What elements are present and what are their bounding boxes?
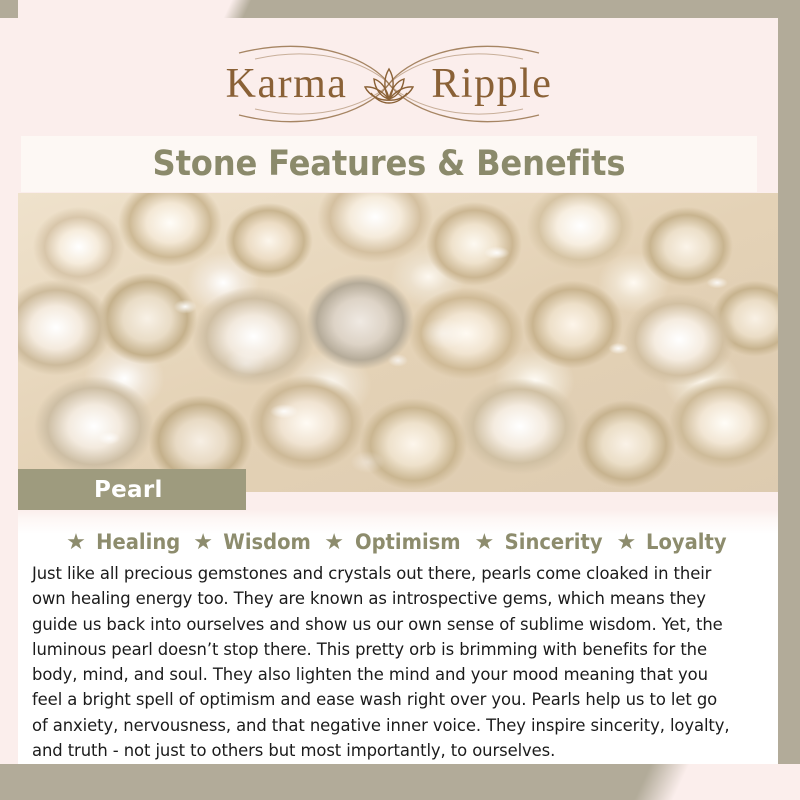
brand-word-right: Ripple bbox=[431, 63, 552, 105]
stone-name-banner: Pearl bbox=[18, 469, 246, 510]
star-icon: ★ bbox=[66, 531, 86, 553]
benefit-label: Loyalty bbox=[646, 530, 727, 554]
brand-word-left: Karma bbox=[226, 63, 348, 105]
infographic-card: Karma Ripple Stone Features & Benefits bbox=[0, 0, 800, 800]
decorative-bottom-band bbox=[0, 764, 800, 800]
lotus-flower-icon bbox=[361, 61, 417, 107]
benefit-label: Optimism bbox=[355, 530, 461, 554]
benefit-keyword-list: ★ Healing ★ Wisdom ★ Optimism ★ Sincerit… bbox=[18, 530, 778, 554]
benefit-item-wisdom: ★ Wisdom bbox=[193, 530, 314, 554]
stone-photo bbox=[18, 193, 778, 492]
page-title: Stone Features & Benefits bbox=[153, 144, 626, 184]
benefit-label: Sincerity bbox=[505, 530, 603, 554]
star-icon: ★ bbox=[324, 531, 344, 553]
star-icon: ★ bbox=[617, 531, 637, 553]
stone-description: Just like all precious gemstones and cry… bbox=[32, 562, 731, 764]
benefit-item-optimism: ★ Optimism bbox=[324, 530, 464, 554]
decorative-top-band bbox=[0, 0, 800, 18]
decorative-right-band bbox=[778, 0, 800, 800]
content-panel: ★ Healing ★ Wisdom ★ Optimism ★ Sincerit… bbox=[18, 510, 778, 764]
card-sheet: Karma Ripple Stone Features & Benefits bbox=[0, 18, 778, 764]
benefit-label: Wisdom bbox=[223, 530, 311, 554]
benefit-label: Healing bbox=[96, 530, 180, 554]
stone-name-label: Pearl bbox=[94, 477, 163, 503]
star-icon: ★ bbox=[475, 531, 495, 553]
benefit-item-loyalty: ★ Loyalty bbox=[617, 530, 730, 554]
star-icon: ★ bbox=[193, 531, 213, 553]
brand-logo: Karma Ripple bbox=[0, 34, 778, 134]
benefit-item-healing: ★ Healing bbox=[66, 530, 183, 554]
title-plaque: Stone Features & Benefits bbox=[21, 136, 757, 192]
benefit-item-sincerity: ★ Sincerity bbox=[475, 530, 607, 554]
stone-photo-sheen bbox=[18, 193, 778, 492]
